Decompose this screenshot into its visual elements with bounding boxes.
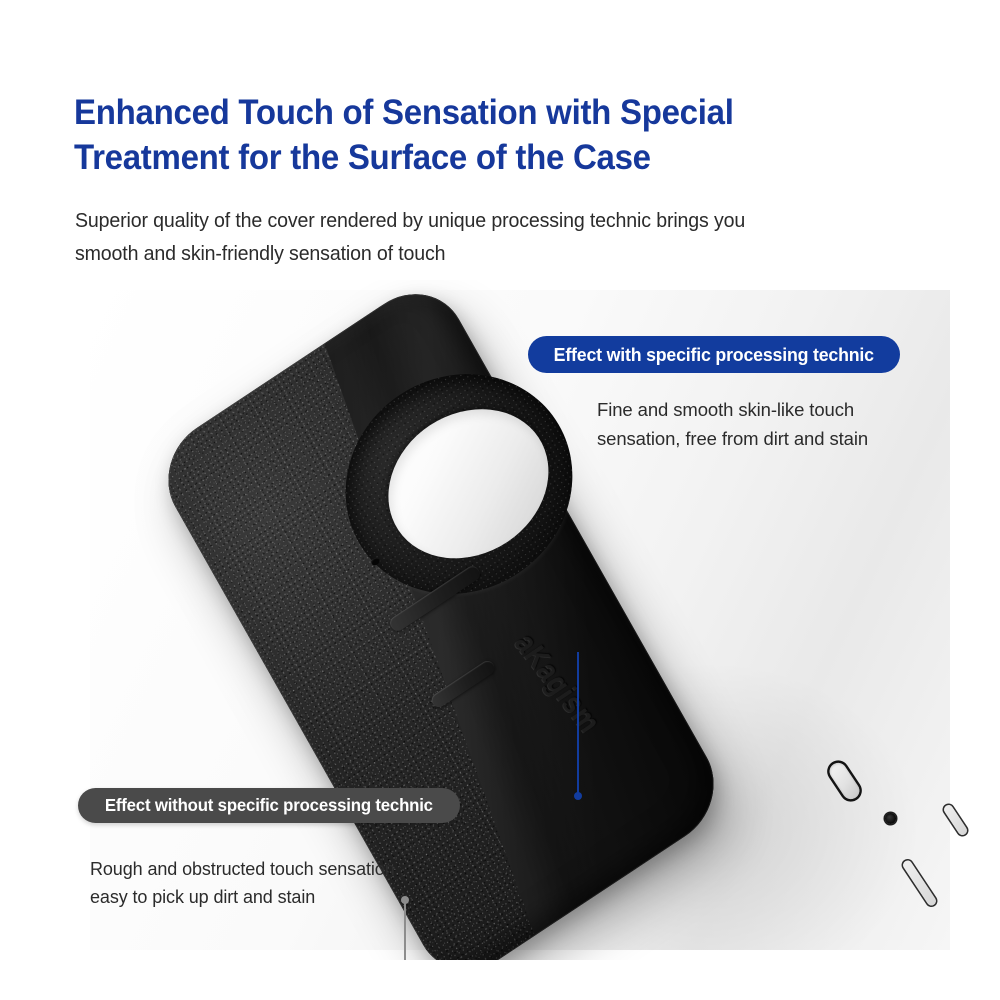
- usb-c-port-cutout: [826, 760, 862, 803]
- callout-body-good: Fine and smooth skin-like touch sensatio…: [597, 395, 907, 453]
- bottom-mic-hole: [885, 813, 896, 824]
- callout-badge-good-label: Effect with specific processing technic: [554, 344, 874, 366]
- callout-badge-bad-label: Effect without specific processing techn…: [105, 795, 433, 816]
- callout-body-bad: Rough and obstructed touch sensation , e…: [90, 855, 430, 911]
- callout-badge-good: Effect with specific processing technic: [528, 336, 900, 373]
- marketing-banner: Enhanced Touch of Sensation with Special…: [0, 0, 1000, 1000]
- callout-leader-line-good: [577, 652, 579, 796]
- callout-badge-bad: Effect without specific processing techn…: [78, 788, 460, 823]
- page-subtitle: Superior quality of the cover rendered b…: [75, 204, 868, 270]
- page-title: Enhanced Touch of Sensation with Special…: [74, 90, 818, 180]
